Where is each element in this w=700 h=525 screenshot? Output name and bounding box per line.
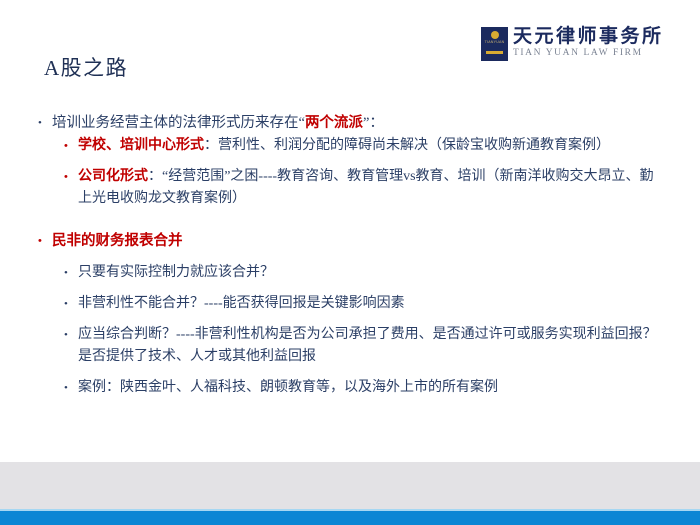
legal-forms-suffix: ”： (363, 115, 384, 131)
footer-gray-band (0, 462, 700, 509)
bullet-level1-legal-forms-text: 培训业务经营主体的法律形式历来存在“两个流派”： (52, 112, 664, 135)
logo-mark-pinyin: TIANYUAN (481, 40, 508, 44)
bullet-level2-control-question: • 只要有实际控制力就应该合并？ (64, 262, 664, 284)
bullet-level2-nonprofit-question: • 非营利性不能合并？----能否获得回报是关键影响因素 (64, 293, 664, 315)
cases-text: 案例：陕西金叶、人福科技、朗顿教育等，以及海外上市的所有案例 (78, 377, 664, 399)
spacer (38, 315, 664, 324)
slide-title: A股之路 (44, 52, 128, 82)
firm-logo: TIANYUAN 天元律师事务所 TIAN YUAN LAW FIRM (481, 27, 664, 61)
bullet-marker-icon: • (64, 135, 78, 157)
bullet-marker-icon: • (64, 377, 78, 399)
spacer (38, 253, 664, 262)
logo-crest-icon (491, 31, 499, 39)
bullet-marker-icon: • (64, 324, 78, 346)
bullet-level2-school-form-text: 学校、培训中心形式：营利性、利润分配的障碍尚未解决（保龄宝收购新通教育案例） (78, 135, 664, 157)
bullet-level2-school-form: • 学校、培训中心形式：营利性、利润分配的障碍尚未解决（保龄宝收购新通教育案例） (64, 135, 664, 157)
bullet-level2-company-form: • 公司化形式：“经营范围”之困----教育咨询、教育管理vs教育、培训（新南洋… (64, 166, 664, 210)
legal-forms-highlight: 两个流派 (305, 115, 363, 131)
bullet-marker-icon: • (38, 230, 52, 253)
school-form-body: ：营利性、利润分配的障碍尚未解决（保龄宝收购新通教育案例） (204, 138, 610, 153)
slide-body: • 培训业务经营主体的法律形式历来存在“两个流派”： • 学校、培训中心形式：营… (38, 112, 664, 399)
footer-blue-bar (0, 511, 700, 525)
school-form-label: 学校、培训中心形式 (78, 138, 204, 153)
logo-gold-bar-icon (486, 51, 503, 54)
bullet-level1-legal-forms: • 培训业务经营主体的法律形式历来存在“两个流派”： (38, 112, 664, 135)
logo-emblem-icon: TIANYUAN (481, 27, 508, 61)
bullet-level2-cases: • 案例：陕西金叶、人福科技、朗顿教育等，以及海外上市的所有案例 (64, 377, 664, 399)
bullet-level2-comprehensive-judgement: • 应当综合判断？----非营利性机构是否为公司承担了费用、是否通过许可或服务实… (64, 324, 664, 368)
logo-text-block: 天元律师事务所 TIAN YUAN LAW FIRM (513, 27, 664, 59)
spacer (38, 210, 664, 230)
company-form-label: 公司化形式 (78, 169, 148, 184)
control-question-text: 只要有实际控制力就应该合并？ (78, 262, 664, 284)
logo-english-name: TIAN YUAN LAW FIRM (513, 47, 664, 59)
spacer (38, 368, 664, 377)
bullet-marker-icon: • (64, 262, 78, 284)
bullet-level2-company-form-text: 公司化形式：“经营范围”之困----教育咨询、教育管理vs教育、培训（新南洋收购… (78, 166, 664, 210)
bullet-marker-icon: • (64, 166, 78, 188)
consolidation-heading: 民非的财务报表合并 (52, 230, 664, 253)
spacer (38, 157, 664, 166)
bullet-marker-icon: • (64, 293, 78, 315)
bullet-level1-consolidation: • 民非的财务报表合并 (38, 230, 664, 253)
spacer (38, 284, 664, 293)
logo-chinese-name: 天元律师事务所 (513, 27, 664, 47)
company-form-body: ：“经营范围”之困----教育咨询、教育管理vs教育、培训（新南洋收购交大昂立、… (78, 169, 654, 206)
legal-forms-prefix: 培训业务经营主体的法律形式历来存在“ (52, 115, 305, 131)
presentation-slide: TIANYUAN 天元律师事务所 TIAN YUAN LAW FIRM A股之路… (0, 0, 700, 525)
nonprofit-question-text: 非营利性不能合并？----能否获得回报是关键影响因素 (78, 293, 664, 315)
comprehensive-judgement-text: 应当综合判断？----非营利性机构是否为公司承担了费用、是否通过许可或服务实现利… (78, 324, 664, 368)
bullet-marker-icon: • (38, 112, 52, 135)
